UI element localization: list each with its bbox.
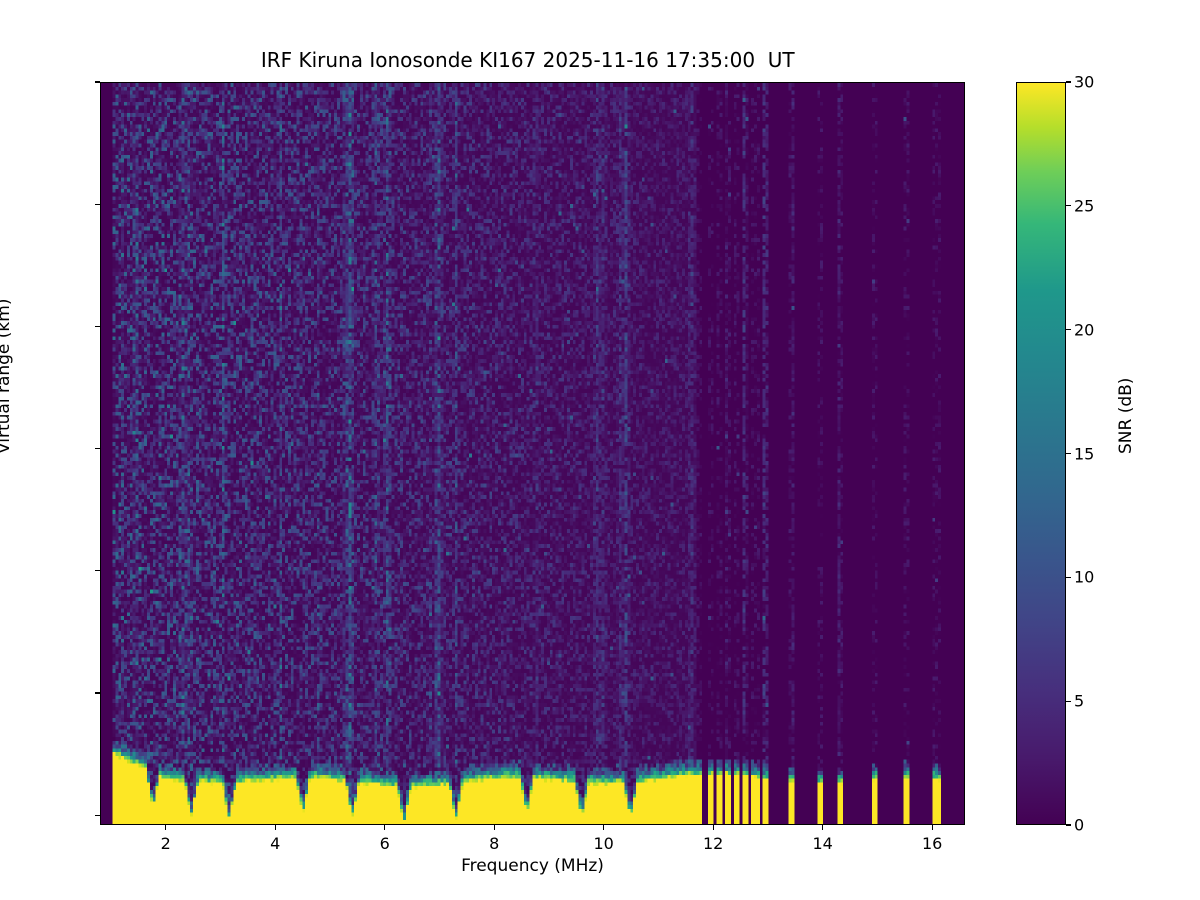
- y-tick-mark: [95, 692, 100, 693]
- colorbar-tick-label: 20: [1074, 320, 1094, 339]
- colorbar-label: SNR (dB): [1116, 378, 1136, 454]
- x-tick-mark: [932, 825, 933, 830]
- colorbar-tick-label: 10: [1074, 568, 1094, 587]
- colorbar-tick-mark: [1066, 701, 1071, 702]
- y-tick-mark: [95, 448, 100, 449]
- colorbar-tick-label: 30: [1074, 73, 1094, 92]
- x-tick-label: 12: [703, 834, 723, 853]
- x-tick-label: 8: [489, 834, 499, 853]
- colorbar-tick-mark: [1066, 577, 1071, 578]
- colorbar-tick-mark: [1066, 824, 1071, 825]
- snr-heatmap: [101, 83, 964, 824]
- x-tick-label: 16: [922, 834, 942, 853]
- x-tick-mark: [275, 825, 276, 830]
- colorbar-tick-mark: [1066, 205, 1071, 206]
- x-tick-mark: [165, 825, 166, 830]
- colorbar-tick-mark: [1066, 329, 1071, 330]
- x-tick-label: 6: [380, 834, 390, 853]
- colorbar-tick-mark: [1066, 81, 1071, 82]
- y-axis-label: Virtual range (km): [0, 299, 14, 454]
- x-tick-mark: [822, 825, 823, 830]
- colorbar-tick-label: 15: [1074, 444, 1094, 463]
- colorbar-tick-label: 25: [1074, 196, 1094, 215]
- colorbar-tick-label: 5: [1074, 692, 1084, 711]
- heatmap-canvas: [101, 83, 964, 824]
- x-tick-mark: [713, 825, 714, 830]
- x-tick-label: 14: [812, 834, 832, 853]
- ionogram-plot-area: [100, 82, 965, 825]
- x-axis-label: Frequency (MHz): [100, 856, 965, 876]
- x-tick-mark: [603, 825, 604, 830]
- title-line-1: IRF Kiruna Ionosonde KI167 2025-11-16 17…: [261, 48, 795, 72]
- ionogram-figure: IRF Kiruna Ionosonde KI167 2025-11-16 17…: [0, 0, 1200, 900]
- colorbar-tick-label: 0: [1074, 816, 1084, 835]
- y-tick-mark: [95, 204, 100, 205]
- y-tick-mark: [95, 815, 100, 816]
- x-tick-mark: [494, 825, 495, 830]
- colorbar-tick-mark: [1066, 453, 1071, 454]
- snr-colorbar: [1016, 82, 1066, 825]
- x-tick-label: 2: [161, 834, 171, 853]
- x-tick-label: 4: [270, 834, 280, 853]
- y-tick-mark: [95, 570, 100, 571]
- x-tick-label: 10: [593, 834, 613, 853]
- x-tick-mark: [384, 825, 385, 830]
- y-tick-mark: [95, 81, 100, 82]
- y-tick-mark: [95, 326, 100, 327]
